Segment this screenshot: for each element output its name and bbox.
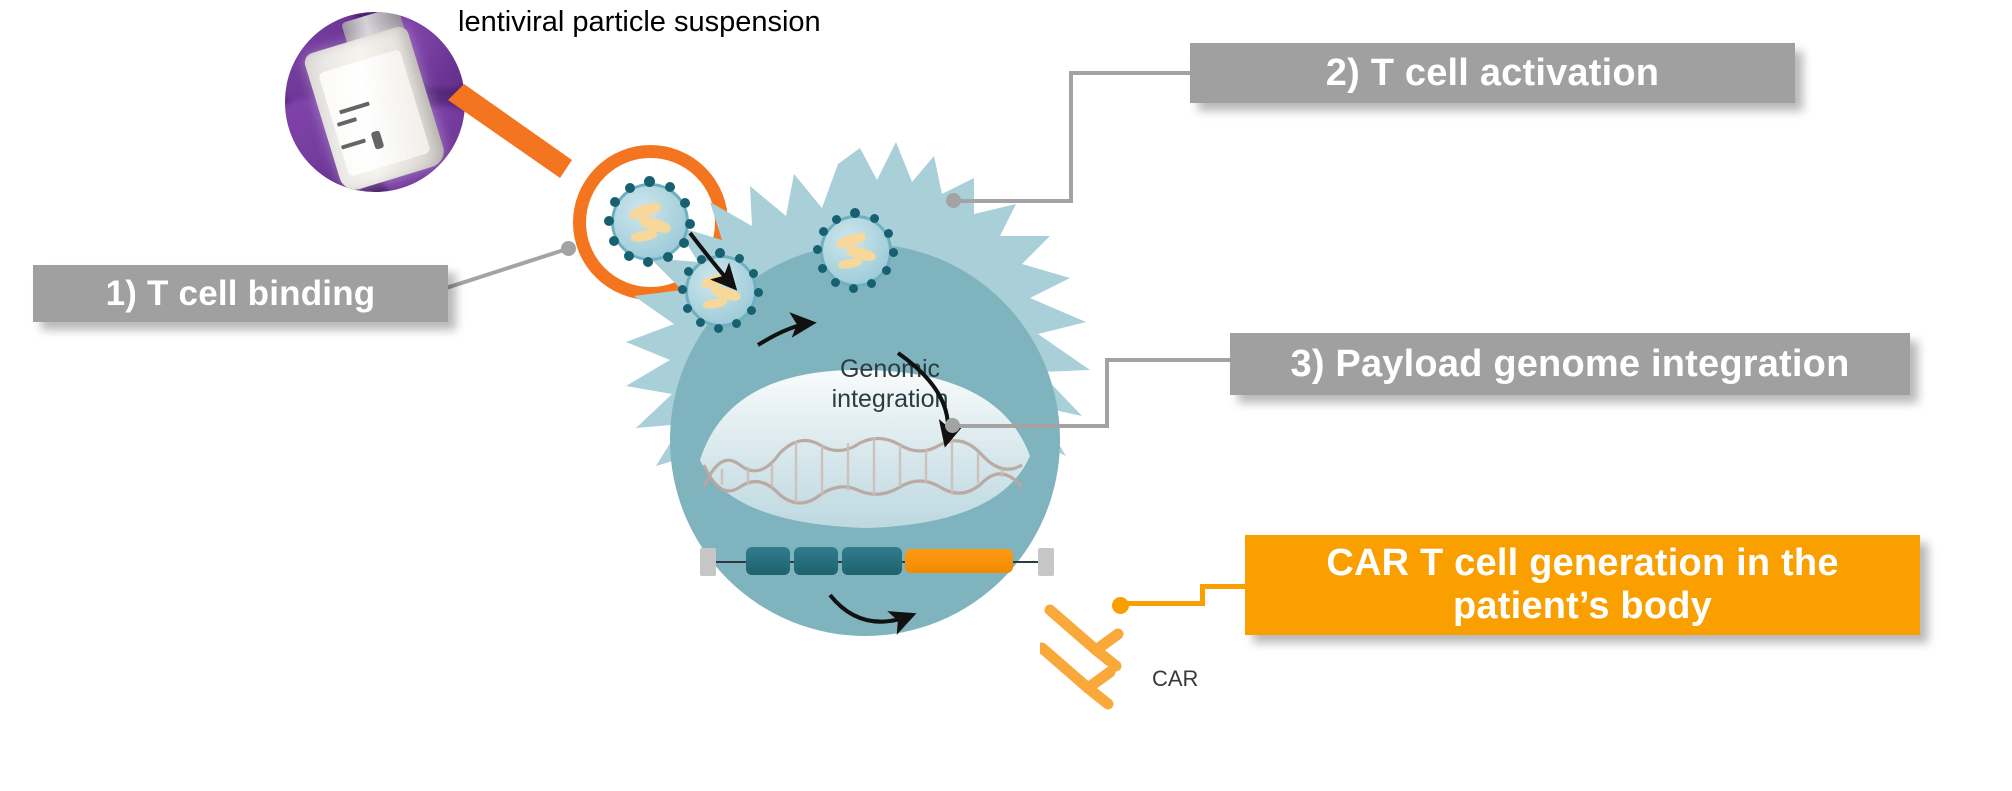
step1-connector-dot — [561, 241, 576, 256]
dna-helix — [700, 425, 1030, 515]
car-connector-tolabel — [1200, 584, 1250, 589]
step2-connector-horizontal — [958, 199, 1073, 203]
virus-particle-uncoating — [820, 215, 892, 287]
gene-segment-1 — [746, 547, 790, 575]
callout-car-generation[interactable]: CAR T cell generation in the patient’s b… — [1245, 535, 1920, 635]
step2-connector-vertical — [1069, 73, 1073, 201]
ltr-left — [700, 548, 716, 576]
step1-connector-line — [440, 240, 575, 300]
genomic-integration-label: Genomic integration — [795, 355, 985, 414]
diagram-canvas: lentiviral particle suspension — [0, 0, 2012, 791]
lentiviral-vial-photo — [285, 12, 465, 192]
gene-segment-3 — [842, 547, 902, 575]
car-label: CAR — [1152, 666, 1198, 692]
step3-connector-vertical — [1105, 358, 1109, 428]
callout-step3[interactable]: 3) Payload genome integration — [1230, 333, 1910, 395]
car-receptors — [1040, 600, 1170, 710]
gene-segment-2 — [794, 547, 838, 575]
callout-step2[interactable]: 2) T cell activation — [1190, 43, 1795, 103]
payload-gene-segment — [905, 549, 1013, 573]
step3-connector-tolabel — [1105, 358, 1235, 362]
step2-connector-tolabel — [1069, 71, 1194, 75]
lentiviral-suspension-caption: lentiviral particle suspension — [458, 6, 821, 39]
callout-step1[interactable]: 1) T cell binding — [33, 265, 448, 322]
ltr-right — [1038, 548, 1054, 576]
step3-connector-horizontal — [957, 424, 1109, 428]
car-connector-horizontal — [1125, 601, 1205, 606]
virus-particle-entering — [685, 255, 757, 327]
virus-particle-highlighted — [611, 183, 689, 261]
